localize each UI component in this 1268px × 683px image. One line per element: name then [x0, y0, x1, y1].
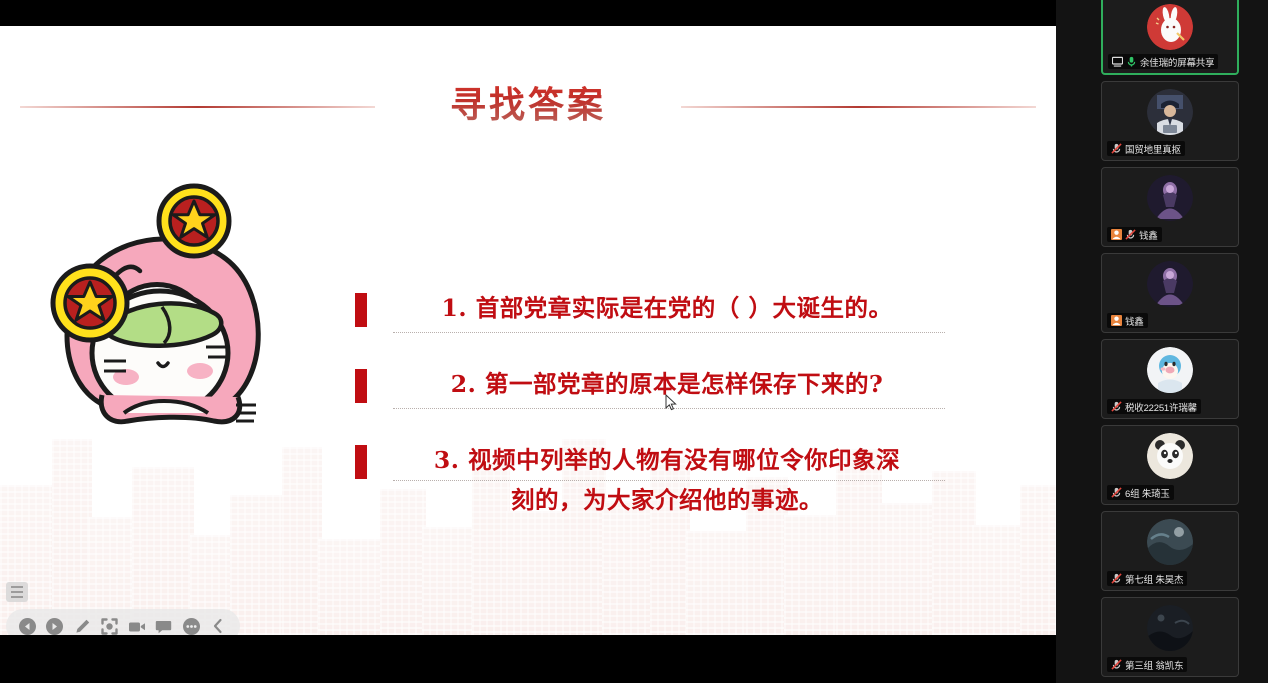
participant-tile-7[interactable]: 第三组 翁凯东 — [1101, 597, 1239, 677]
participant-tile-2[interactable]: 钱鑫 — [1101, 167, 1239, 247]
presentation-slide: 寻找答案 — [0, 26, 1056, 635]
slide-title-row: 寻找答案 — [0, 84, 1056, 138]
question-item: 3. 视频中列举的人物有没有哪位令你印象深 刻的，为大家介绍他的事迹。 — [355, 440, 945, 520]
letterbox-top — [0, 0, 1056, 26]
participant-name: 第三组 翁凯东 — [1125, 658, 1183, 672]
question-item: 2. 第一部党章的原本是怎样保存下来的? — [355, 364, 945, 404]
participant-tile-3[interactable]: 钱鑫 — [1101, 253, 1239, 333]
screen-share-icon — [1112, 56, 1123, 67]
avatar — [1147, 89, 1193, 135]
question-item: 1. 首部党章实际是在党的（ ）大诞生的。 — [355, 288, 945, 328]
question-text-continued: 刻的，为大家介绍他的事迹。 — [355, 480, 945, 520]
avatar — [1147, 519, 1193, 565]
question-marker — [355, 293, 367, 327]
menu-bar-line — [11, 596, 23, 598]
host-icon — [1111, 229, 1122, 240]
microphone-muted-icon — [1111, 143, 1122, 154]
more-options-icon[interactable] — [179, 613, 204, 635]
mouse-cursor — [665, 394, 677, 412]
meeting-screen: 寻找答案 — [0, 0, 1268, 683]
participant-name-bar: 钱鑫 — [1107, 227, 1162, 242]
question-marker — [355, 445, 367, 479]
shared-screen-area: 寻找答案 — [0, 0, 1056, 683]
menu-bar-line — [11, 591, 23, 593]
question-list: 1. 首部党章实际是在党的（ ）大诞生的。 2. 第一部党章的原本是怎样保存下来… — [355, 288, 945, 556]
pen-icon[interactable] — [70, 613, 95, 635]
microphone-muted-icon — [1111, 659, 1122, 670]
participant-tile-5[interactable]: 6组 朱琦玉 — [1101, 425, 1239, 505]
avatar — [1147, 433, 1193, 479]
question-text: 2. 第一部党章的原本是怎样保存下来的? — [355, 364, 945, 404]
chevron-left-icon[interactable] — [206, 613, 231, 635]
presenter-toolbar[interactable] — [6, 609, 240, 635]
avatar — [1147, 347, 1193, 393]
slide-menu-button[interactable] — [6, 582, 28, 602]
participant-name-bar: 余佳瑞的屏幕共享 — [1108, 54, 1218, 69]
microphone-icon — [1126, 56, 1137, 67]
participant-tile-4[interactable]: 税收22251许瑞馨 — [1101, 339, 1239, 419]
participant-name: 6组 朱琦玉 — [1125, 486, 1170, 500]
microphone-muted-icon — [1125, 229, 1136, 240]
question-text: 1. 首部党章实际是在党的（ ）大诞生的。 — [355, 288, 945, 328]
menu-bar-line — [11, 586, 23, 588]
participant-name-bar: 国贸地里真抠 — [1107, 141, 1185, 156]
page-title: 寻找答案 — [0, 76, 1056, 128]
participant-name: 余佳瑞的屏幕共享 — [1140, 55, 1214, 69]
comment-icon[interactable] — [151, 613, 176, 635]
avatar — [1147, 175, 1193, 221]
participant-name: 钱鑫 — [1125, 314, 1144, 328]
participant-name-bar: 税收22251许瑞馨 — [1107, 399, 1201, 414]
participant-name-bar: 6组 朱琦玉 — [1107, 485, 1174, 500]
previous-slide-button[interactable] — [15, 613, 40, 635]
letterbox-bottom: 正在讲话: 余佳瑞: — [0, 635, 1056, 683]
host-icon — [1111, 315, 1122, 326]
mascot-illustration — [38, 181, 278, 426]
question-underline — [393, 332, 945, 333]
question-marker — [355, 369, 367, 403]
microphone-muted-icon — [1111, 401, 1122, 412]
question-text: 3. 视频中列举的人物有没有哪位令你印象深 — [355, 440, 945, 480]
participant-tile-0[interactable]: 余佳瑞的屏幕共享 — [1101, 0, 1239, 75]
camera-icon[interactable] — [124, 613, 149, 635]
participant-name-bar: 第七组 朱昊杰 — [1107, 571, 1187, 586]
participant-name: 国贸地里真抠 — [1125, 142, 1181, 156]
spotlight-icon[interactable] — [97, 613, 122, 635]
avatar — [1147, 4, 1193, 50]
participant-tile-6[interactable]: 第七组 朱昊杰 — [1101, 511, 1239, 591]
participant-name: 钱鑫 — [1139, 228, 1158, 242]
participant-rail[interactable]: 余佳瑞的屏幕共享 国贸地里真抠 — [1056, 0, 1268, 683]
microphone-muted-icon — [1111, 487, 1122, 498]
participant-tile-1[interactable]: 国贸地里真抠 — [1101, 81, 1239, 161]
avatar — [1147, 605, 1193, 651]
question-underline — [393, 480, 945, 481]
participant-name: 税收22251许瑞馨 — [1125, 400, 1197, 414]
next-slide-button[interactable] — [42, 613, 67, 635]
participant-name: 第七组 朱昊杰 — [1125, 572, 1183, 586]
avatar — [1147, 261, 1193, 307]
microphone-muted-icon — [1111, 573, 1122, 584]
participant-name-bar: 钱鑫 — [1107, 313, 1148, 328]
participant-name-bar: 第三组 翁凯东 — [1107, 657, 1187, 672]
